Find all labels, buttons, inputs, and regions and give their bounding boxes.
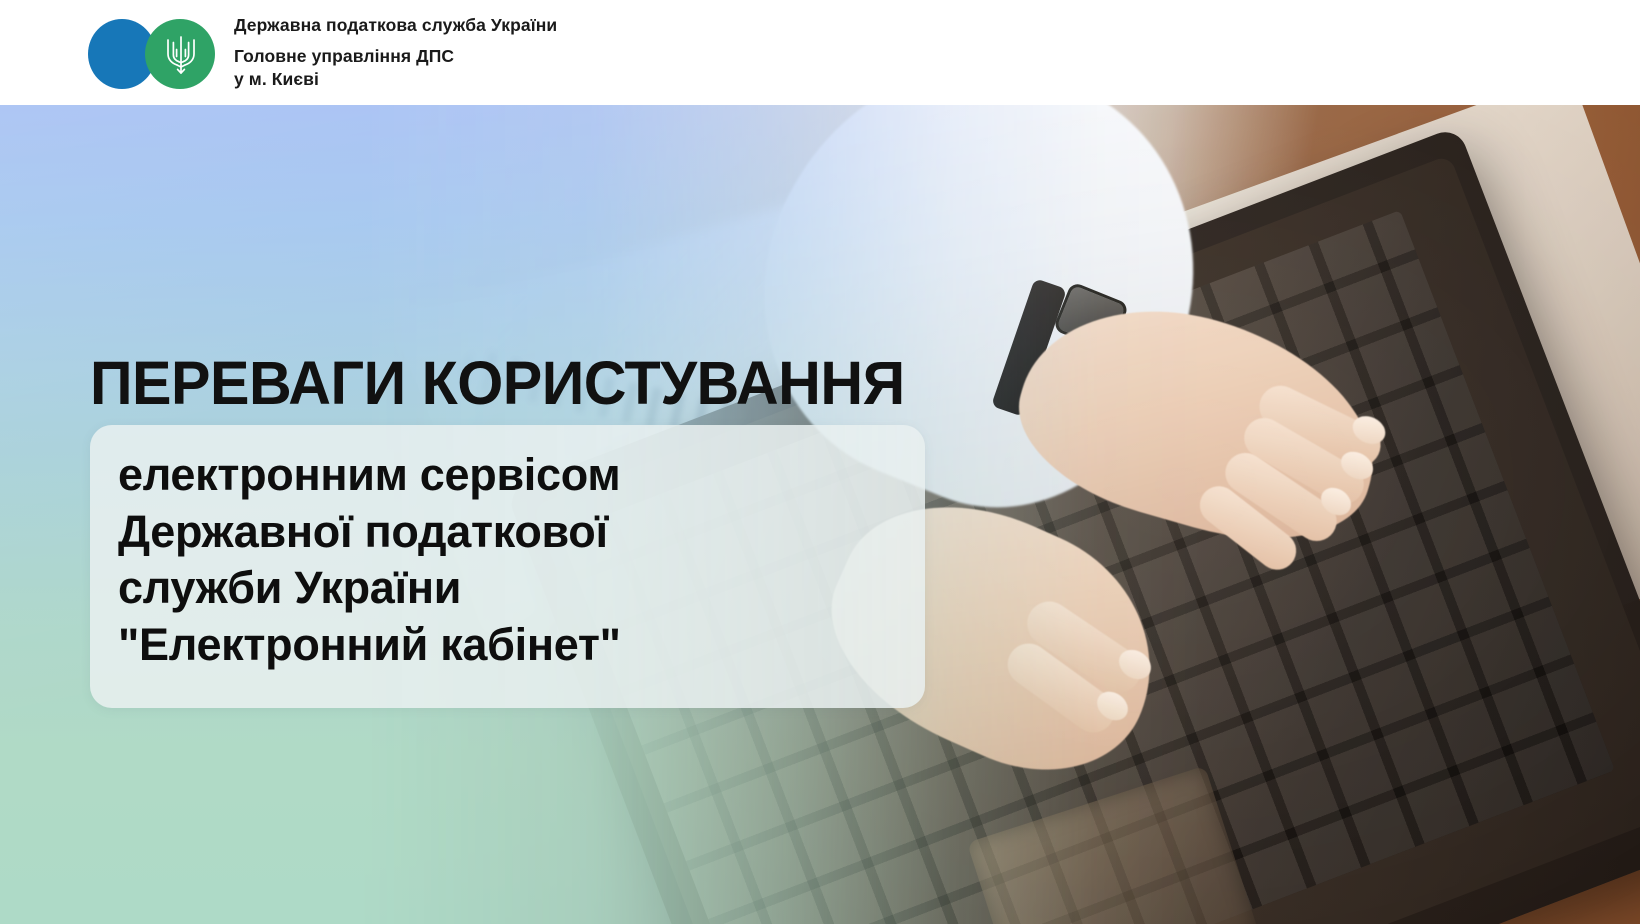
agency-name-city: у м. Києві: [234, 68, 557, 91]
subtitle-line-3: служби України: [118, 560, 907, 617]
ukraine-trident-emblem-icon: [164, 33, 198, 77]
agency-name-primary: Державна податкова служба України: [234, 14, 557, 38]
hero-title: ПЕРЕВАГИ КОРИСТУВАННЯ: [90, 348, 905, 418]
hero-banner: ПЕРЕВАГИ КОРИСТУВАННЯ електронним сервіс…: [0, 105, 1640, 924]
agency-name-secondary: Головне управління ДПС: [234, 45, 557, 68]
poster-root: Державна податкова служба України Головн…: [0, 0, 1640, 924]
subtitle-line-2: Державної податкової: [118, 504, 907, 561]
subtitle-line-4: "Електронний кабінет": [118, 617, 907, 674]
agency-name-block: Державна податкова служба України Головн…: [234, 14, 557, 91]
hero-subtitle-text: електронним сервісом Державної податково…: [118, 447, 907, 674]
subtitle-line-1: електронним сервісом: [118, 447, 907, 504]
agency-logo: [88, 17, 212, 89]
hero-subtitle-panel: електронним сервісом Державної податково…: [90, 425, 925, 708]
site-header: Державна податкова служба України Головн…: [0, 0, 1640, 105]
